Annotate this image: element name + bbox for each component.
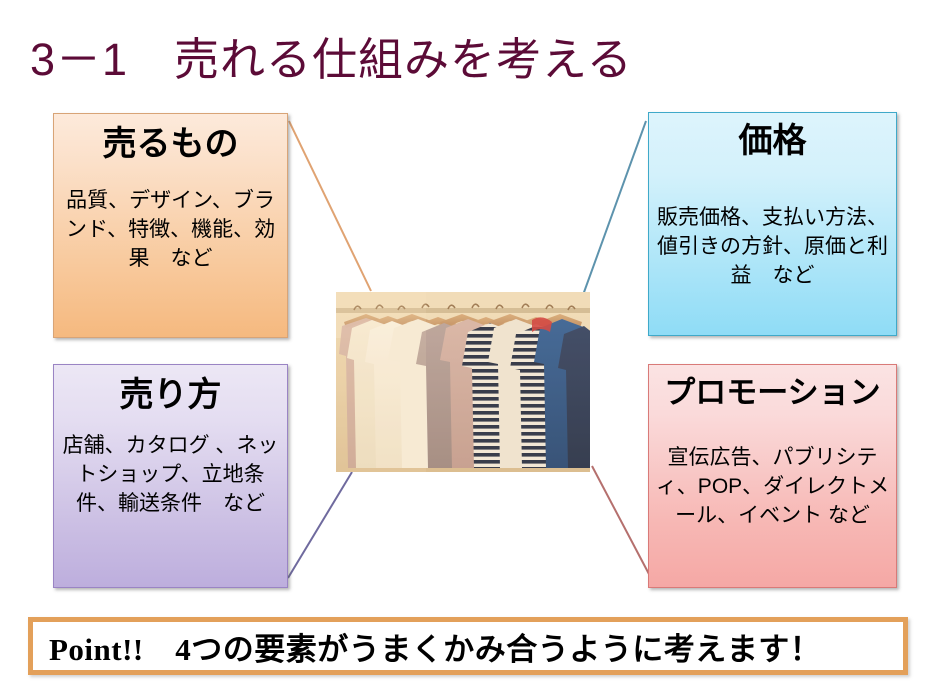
center-photo-clothes-rack <box>336 292 590 472</box>
clothes-rack-illustration <box>336 292 590 472</box>
box-promotion-body: 宣伝広告、パブリシティ、POP、ダイレクトメール、イベント など <box>649 443 896 530</box>
box-place-body: 店舗、カタログ 、ネットショップ、立地条件、輸送条件 など <box>54 431 287 518</box>
connector-place-to-center <box>288 472 352 578</box>
connector-product-to-center <box>289 121 371 291</box>
quadrant-box-product[interactable]: 売るもの 品質、デザイン、ブランド、特徴、機能、効果 など <box>53 113 288 338</box>
box-product-heading: 売るもの <box>103 124 239 164</box>
quadrant-box-place[interactable]: 売り方 店舗、カタログ 、ネットショップ、立地条件、輸送条件 など <box>53 364 288 588</box>
box-price-body: 販売価格、支払い方法、値引きの方針、原価と利益 など <box>649 203 896 290</box>
box-promotion-heading: プロモーション <box>664 373 880 413</box>
box-place-heading: 売り方 <box>120 375 222 415</box>
quadrant-box-price[interactable]: 価格 販売価格、支払い方法、値引きの方針、原価と利益 など <box>648 112 897 336</box>
connector-promotion-to-center <box>592 466 650 576</box>
box-price-heading: 価格 <box>739 121 807 161</box>
page-title: 3－1 売れる仕組みを考える <box>30 32 633 88</box>
point-banner-text: Point!! 4つの要素がうまくかみ合うように考えます！ <box>33 624 821 669</box>
slide-canvas: 3－1 売れる仕組みを考える 売るもの 品質、デザイン、ブランド、特徴、機能、効… <box>0 0 939 697</box>
connector-price-to-center <box>583 121 646 295</box>
point-banner: Point!! 4つの要素がうまくかみ合うように考えます！ <box>28 617 908 675</box>
box-product-body: 品質、デザイン、ブランド、特徴、機能、効果 など <box>54 186 287 273</box>
quadrant-box-promotion[interactable]: プロモーション 宣伝広告、パブリシティ、POP、ダイレクトメール、イベント など <box>648 364 897 588</box>
